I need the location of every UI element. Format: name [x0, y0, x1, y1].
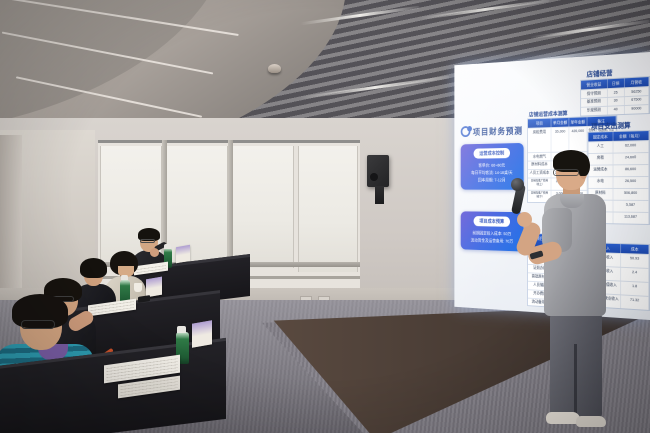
bottle-cap [121, 275, 128, 280]
eyeglasses-icon [21, 320, 55, 329]
presenter-shoe [576, 416, 606, 427]
bottle-cap [164, 244, 171, 249]
presenter-shoe [546, 412, 580, 424]
microphone-icon [511, 178, 524, 191]
name-card [192, 320, 212, 348]
paper-cup [134, 283, 142, 292]
name-card-accent [192, 320, 212, 348]
eyeglasses-icon [140, 239, 155, 243]
speaker-mount-bracket [375, 186, 384, 204]
judge-hair [80, 258, 107, 278]
conference-room-scene: 项目财务预测 运营成本控制 客单价: 60~80元 每日平均客流: 14-18桌… [0, 0, 650, 433]
smoke-detector-icon [268, 64, 281, 73]
judge-hand [150, 248, 159, 257]
bottle-cap [177, 326, 186, 333]
window-blind [232, 146, 294, 268]
name-card [176, 245, 190, 263]
presenter-hair-side [579, 156, 590, 176]
presenter-leg-separation [574, 344, 577, 418]
presenter-hand [517, 212, 532, 227]
wall-pillar [0, 135, 22, 310]
speaker-cone-icon [370, 173, 378, 181]
wall-loudspeaker [367, 155, 389, 187]
presenter-speaking [536, 148, 614, 433]
window-blind [298, 146, 358, 272]
eyeglasses-icon [553, 169, 579, 176]
name-card-accent [176, 245, 190, 263]
